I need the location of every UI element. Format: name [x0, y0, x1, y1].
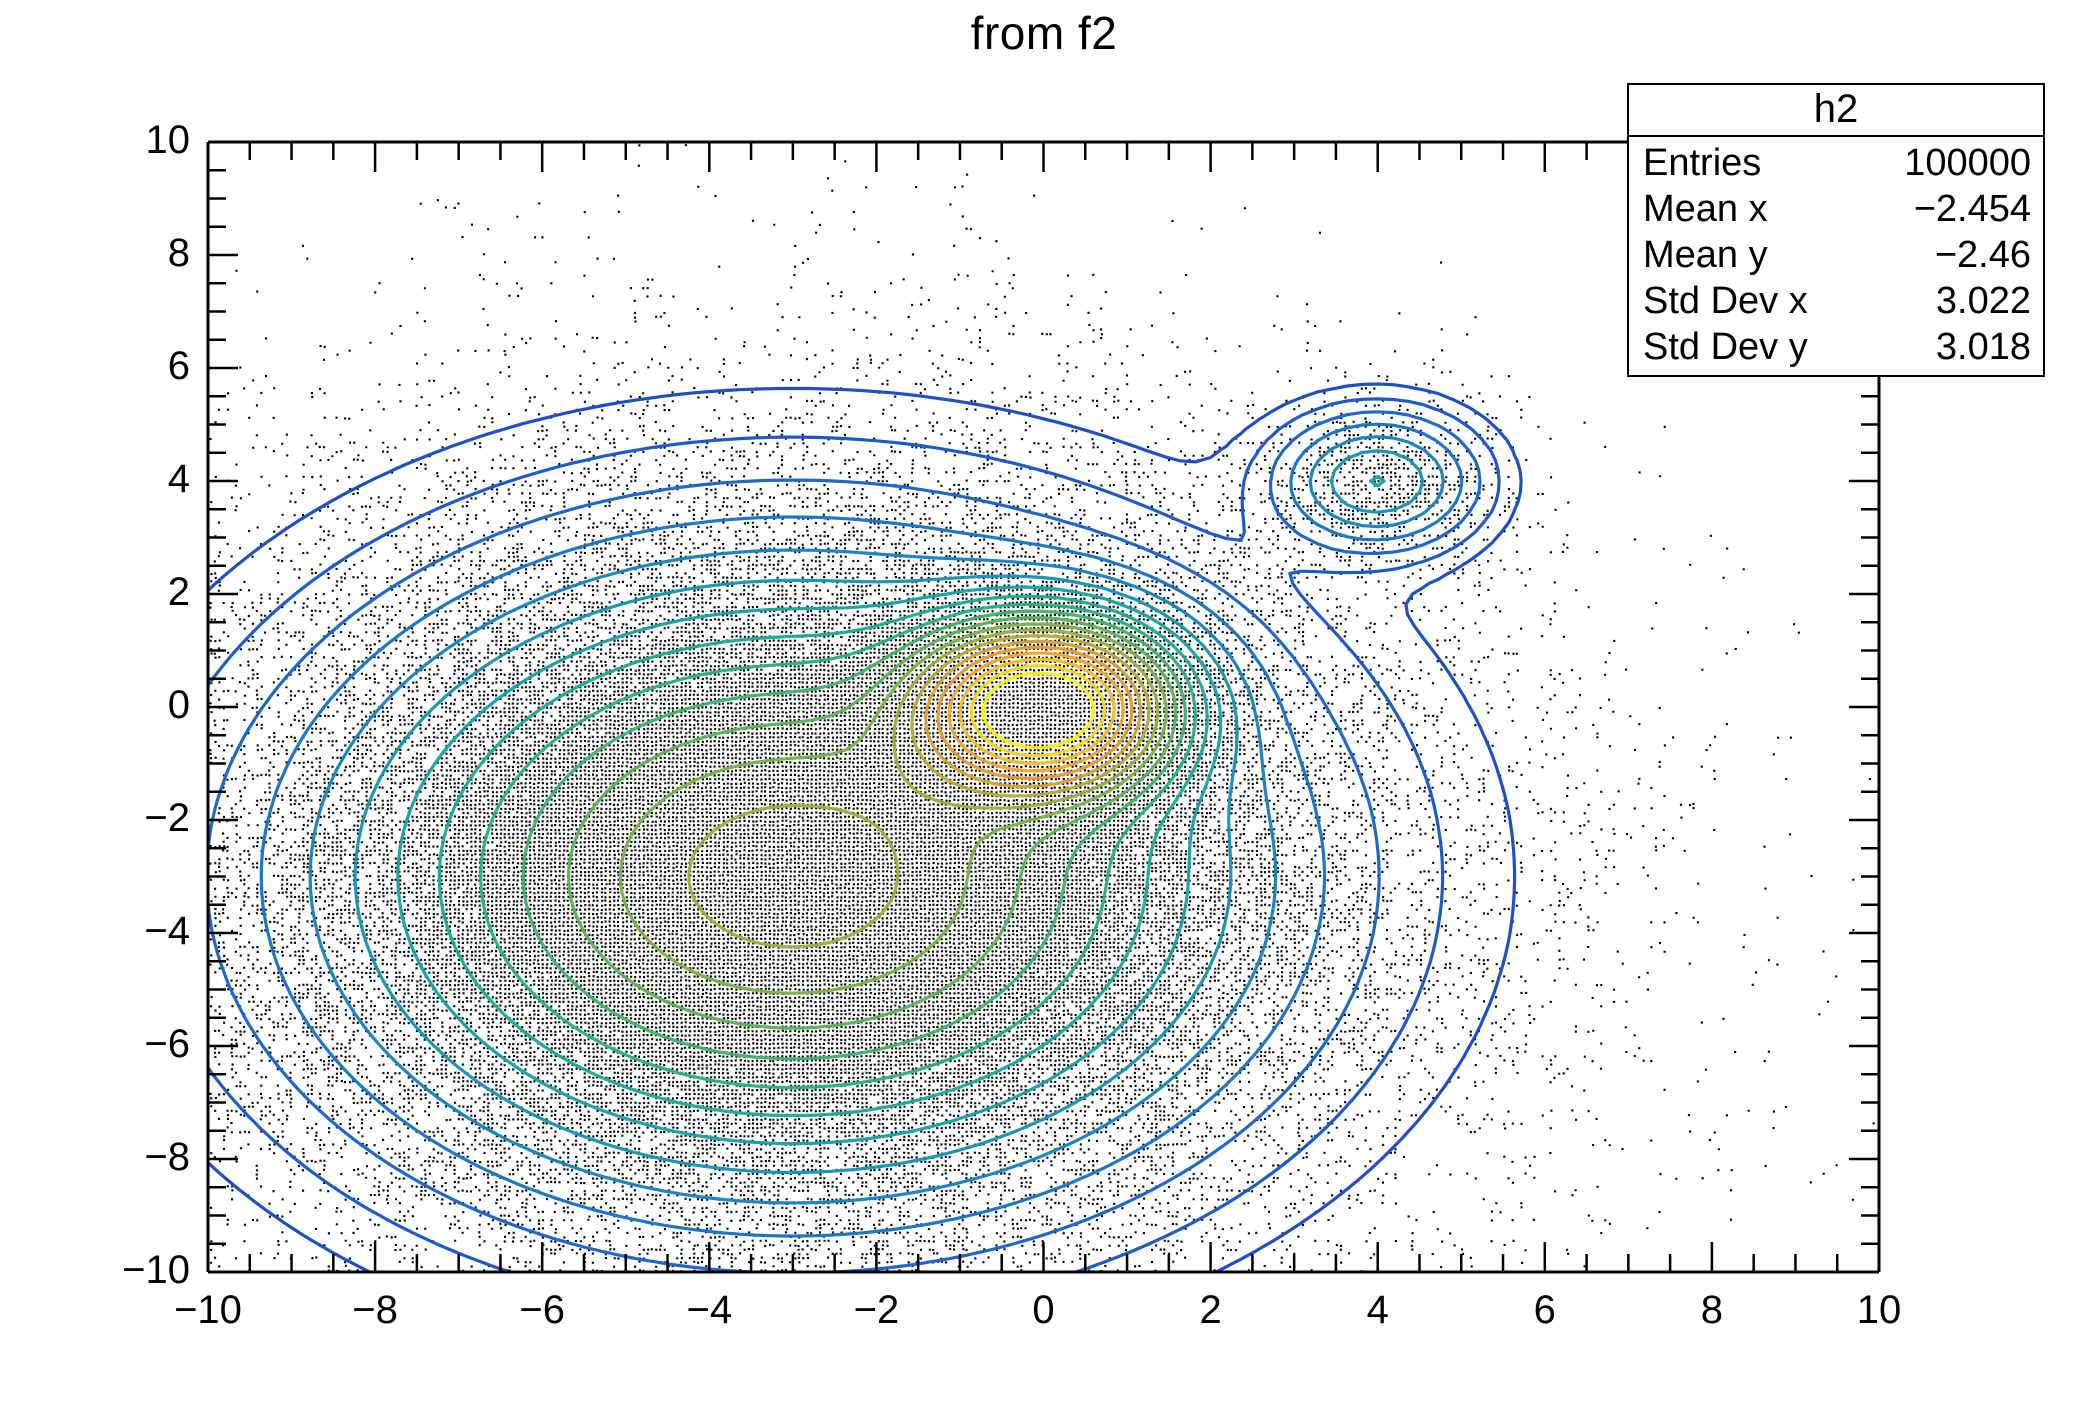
- y-tick-label: −10: [80, 1248, 190, 1293]
- stats-row-value: 100000: [1904, 141, 2031, 185]
- stats-row: Mean y−2.46: [1629, 232, 2043, 278]
- y-tick-label: −4: [80, 909, 190, 954]
- x-tick-label: 2: [1141, 1288, 1281, 1333]
- stats-row-value: 3.022: [1936, 279, 2031, 323]
- stats-box-body: Entries100000Mean x−2.454Mean y−2.46Std …: [1629, 137, 2043, 375]
- x-tick-label: 8: [1642, 1288, 1782, 1333]
- y-tick-label: −6: [80, 1022, 190, 1067]
- x-tick-label: −10: [138, 1288, 278, 1333]
- contour-level-5: [355, 451, 1422, 1173]
- x-tick-label: −4: [639, 1288, 779, 1333]
- stats-row: Std Dev y3.018: [1629, 324, 2043, 370]
- y-tick-label: 4: [80, 457, 190, 502]
- stats-row: Std Dev x3.022: [1629, 278, 2043, 324]
- x-tick-label: 0: [974, 1288, 1114, 1333]
- stats-row: Mean x−2.454: [1629, 186, 2043, 232]
- plot-canvas: from f2 −10−8−6−4−20246810 −10−8−6−4−202…: [0, 0, 2088, 1416]
- y-tick-label: 2: [80, 570, 190, 615]
- y-tick-label: 8: [80, 231, 190, 276]
- stats-row-value: 3.018: [1936, 325, 2031, 369]
- x-tick-label: −8: [305, 1288, 445, 1333]
- contour-lines-layer: [208, 384, 1521, 1272]
- y-tick-label: 0: [80, 683, 190, 728]
- stats-row-key: Entries: [1643, 141, 1761, 185]
- stats-row-key: Mean y: [1643, 233, 1768, 277]
- x-tick-label: 10: [1809, 1288, 1949, 1333]
- stats-row-value: −2.454: [1914, 187, 2031, 231]
- stats-row: Entries100000: [1629, 140, 2043, 186]
- contour-level-2: [208, 412, 1480, 1272]
- x-tick-label: 4: [1308, 1288, 1448, 1333]
- stats-row-key: Std Dev x: [1643, 279, 1808, 323]
- x-tick-label: −2: [806, 1288, 946, 1333]
- y-tick-label: 10: [80, 118, 190, 163]
- stats-box[interactable]: h2 Entries100000Mean x−2.454Mean y−2.46S…: [1627, 83, 2045, 377]
- y-tick-label: −8: [80, 1135, 190, 1180]
- y-tick-label: −2: [80, 796, 190, 841]
- stats-row-value: −2.46: [1935, 233, 2031, 277]
- stats-row-key: Mean x: [1643, 187, 1768, 231]
- y-tick-label: 6: [80, 344, 190, 389]
- x-tick-label: 6: [1475, 1288, 1615, 1333]
- stats-row-key: Std Dev y: [1643, 325, 1808, 369]
- x-tick-label: −6: [472, 1288, 612, 1333]
- stats-box-title: h2: [1629, 85, 2043, 137]
